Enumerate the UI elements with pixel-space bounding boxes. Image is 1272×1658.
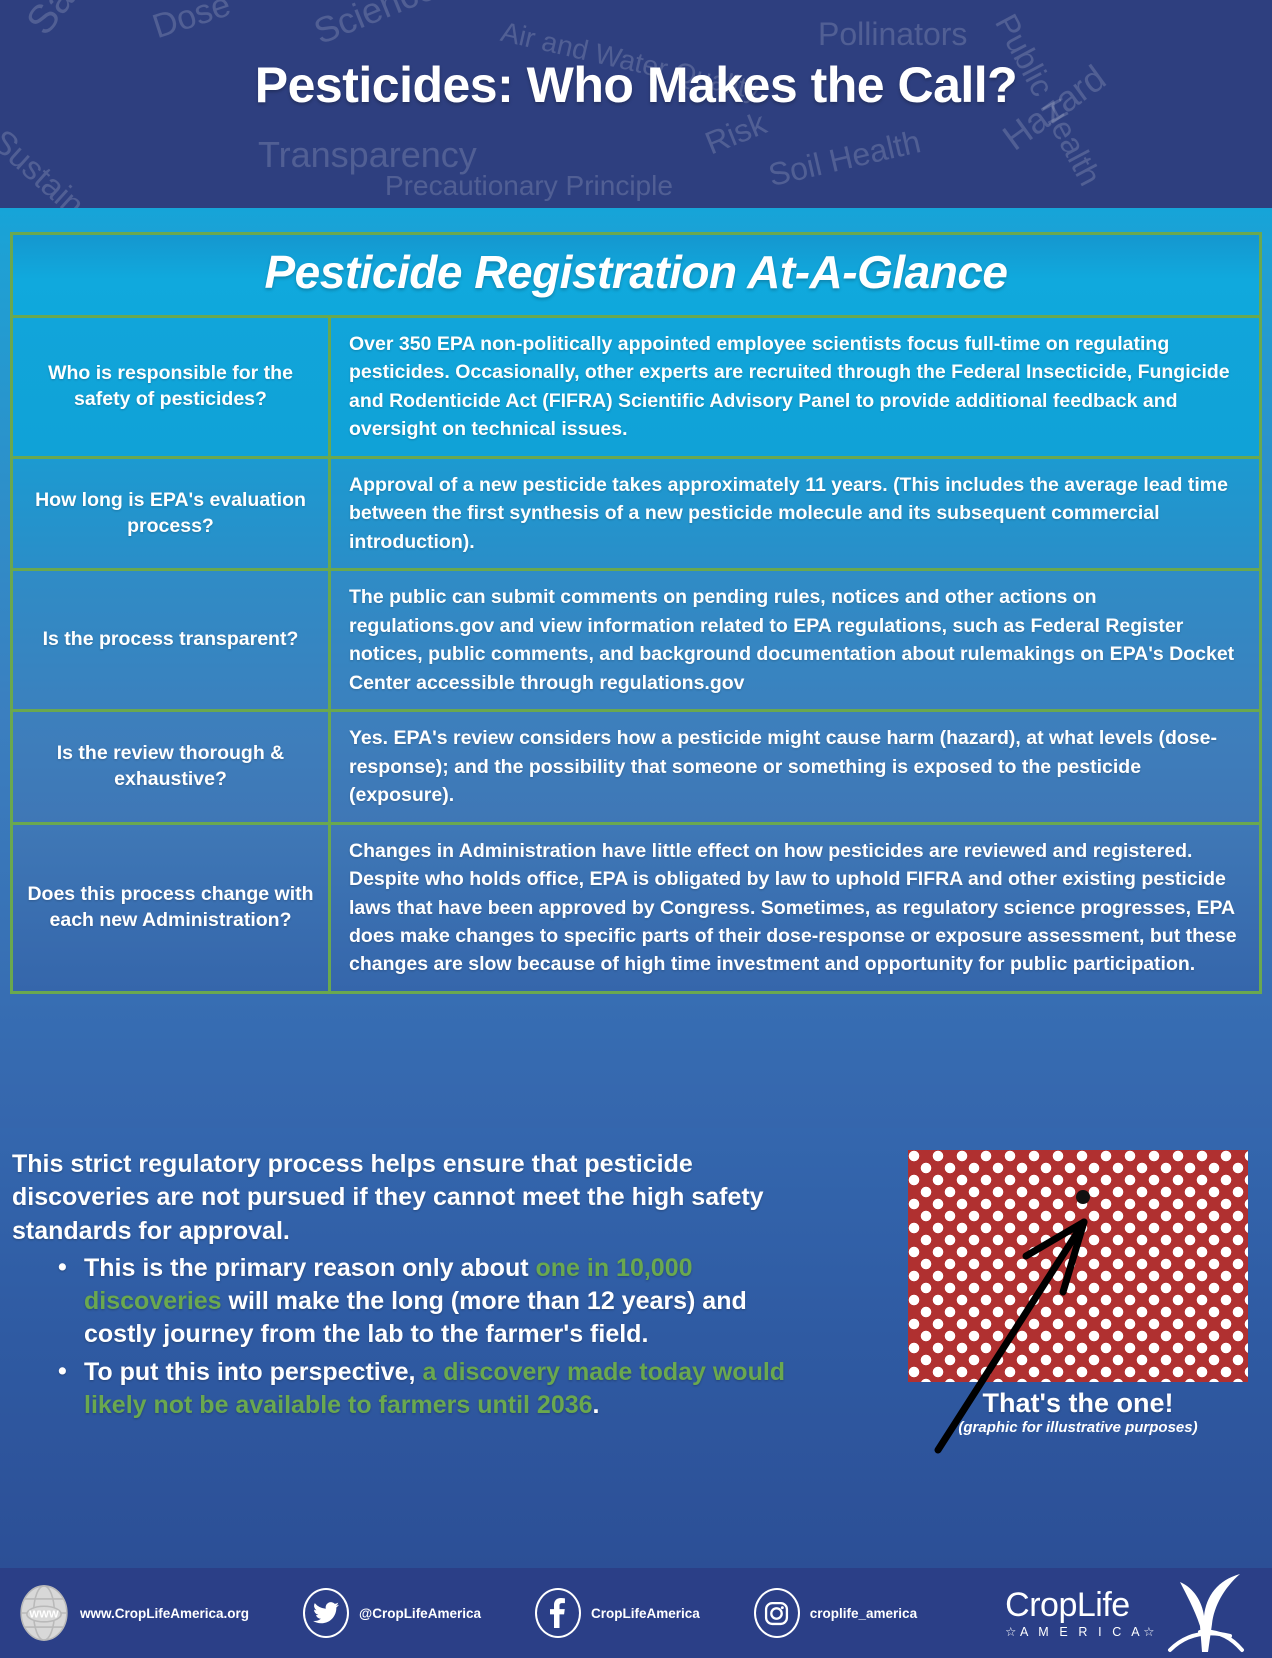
table-section: Pesticide Registration At-A-Glance Who i… [0, 208, 1272, 1128]
graphic-caption-note: (graphic for illustrative purposes) [908, 1419, 1248, 1436]
summary-section: This strict regulatory process helps ens… [0, 1128, 1272, 1568]
black-dot-marker [1076, 1190, 1090, 1204]
facebook-f-glyph [550, 1598, 565, 1628]
footer-instagram[interactable]: croplife_america [754, 1588, 917, 1638]
question-text: Who is responsible for the safety of pes… [27, 361, 314, 412]
bullet2-part-b: . [593, 1391, 600, 1419]
wordcloud-word: Sustainability [0, 122, 155, 208]
logo-name: CropLife [1005, 1588, 1158, 1622]
twitter-bird-glyph [313, 1602, 339, 1624]
table-row: How long is EPA's evaluation process? Ap… [13, 459, 1259, 571]
wordcloud-word: Transparency [258, 134, 477, 176]
instagram-icon [754, 1588, 800, 1638]
answer-text: Approval of a new pesticide takes approx… [349, 471, 1243, 556]
instagram-camera-glyph [764, 1601, 789, 1626]
bullet1-part-a: This is the primary reason only about [84, 1254, 536, 1282]
wordcloud-word: Science [308, 0, 442, 53]
answer-text: Over 350 EPA non-politically appointed e… [349, 330, 1243, 444]
graphic-caption: That's the one! [908, 1388, 1248, 1419]
question-text: Is the review thorough & exhaustive? [27, 741, 314, 792]
croplife-logo-text-block: CropLife ☆A M E R I C A☆ [1005, 1588, 1158, 1639]
footer-facebook-label: CropLifeAmerica [591, 1606, 700, 1621]
answer-text: Changes in Administration have little ef… [349, 837, 1243, 979]
summary-text-block: This strict regulatory process helps ens… [12, 1148, 802, 1422]
table-cell-answer: Approval of a new pesticide takes approx… [331, 459, 1259, 568]
wordcloud-word: Dose [148, 0, 236, 47]
croplife-logo: CropLife ☆A M E R I C A☆ [1005, 1572, 1254, 1654]
footer-website[interactable]: WWW www.CropLifeAmerica.org [18, 1584, 249, 1642]
svg-text:WWW: WWW [29, 1610, 59, 1621]
answer-text: Yes. EPA's review considers how a pestic… [349, 724, 1243, 809]
table-cell-question: Is the process transparent? [13, 571, 331, 709]
table-row: Is the process transparent? The public c… [13, 571, 1259, 712]
facebook-icon [535, 1588, 581, 1638]
globe-www-icon: WWW [18, 1584, 70, 1642]
leaf-sprout-icon [1150, 1572, 1246, 1654]
table-cell-answer: The public can submit comments on pendin… [331, 571, 1259, 709]
logo-subtitle: ☆A M E R I C A☆ [1005, 1624, 1158, 1639]
glance-table-header-text: Pesticide Registration At-A-Glance [13, 245, 1259, 299]
illustrative-graphic: That's the one! (graphic for illustrativ… [908, 1150, 1248, 1436]
bullet2-part-a: To put this into perspective, [84, 1358, 422, 1386]
list-item: This is the primary reason only about on… [58, 1252, 802, 1352]
table-cell-answer: Changes in Administration have little ef… [331, 825, 1259, 991]
table-row: Does this process change with each new A… [13, 825, 1259, 991]
glance-table: Pesticide Registration At-A-Glance Who i… [10, 232, 1262, 994]
footer-bar: WWW www.CropLifeAmerica.org @CropLifeAme… [0, 1568, 1272, 1658]
polka-dot-field [908, 1150, 1248, 1382]
table-row: Is the review thorough & exhaustive? Yes… [13, 712, 1259, 824]
twitter-icon [303, 1588, 349, 1638]
glance-table-header: Pesticide Registration At-A-Glance [13, 235, 1259, 318]
table-cell-answer: Over 350 EPA non-politically appointed e… [331, 318, 1259, 456]
wordcloud-word: Pollinators [818, 16, 967, 53]
summary-lead-text: This strict regulatory process helps ens… [12, 1148, 802, 1248]
table-cell-question: How long is EPA's evaluation process? [13, 459, 331, 568]
question-text: How long is EPA's evaluation process? [27, 488, 314, 539]
footer-website-label: www.CropLifeAmerica.org [80, 1606, 249, 1621]
summary-bullet-list: This is the primary reason only about on… [12, 1252, 802, 1422]
page-header: SafetyDoseScienceAir and Water QualityPo… [0, 0, 1272, 208]
footer-twitter-label: @CropLifeAmerica [359, 1606, 481, 1621]
table-cell-question: Is the review thorough & exhaustive? [13, 712, 331, 821]
wordcloud-word: Soil Health [765, 123, 924, 194]
footer-twitter[interactable]: @CropLifeAmerica [303, 1588, 481, 1638]
footer-facebook[interactable]: CropLifeAmerica [535, 1588, 700, 1638]
table-cell-question: Who is responsible for the safety of pes… [13, 318, 331, 456]
page-title: Pesticides: Who Makes the Call? [0, 56, 1272, 114]
wordcloud-word: Safety [18, 0, 123, 44]
table-cell-answer: Yes. EPA's review considers how a pestic… [331, 712, 1259, 821]
question-text: Is the process transparent? [43, 627, 299, 653]
answer-text: The public can submit comments on pendin… [349, 583, 1243, 697]
table-cell-question: Does this process change with each new A… [13, 825, 331, 991]
footer-instagram-label: croplife_america [810, 1606, 917, 1621]
table-row: Who is responsible for the safety of pes… [13, 318, 1259, 459]
list-item: To put this into perspective, a discover… [58, 1356, 802, 1423]
wordcloud-word: Precautionary Principle [385, 170, 673, 202]
question-text: Does this process change with each new A… [27, 882, 314, 933]
